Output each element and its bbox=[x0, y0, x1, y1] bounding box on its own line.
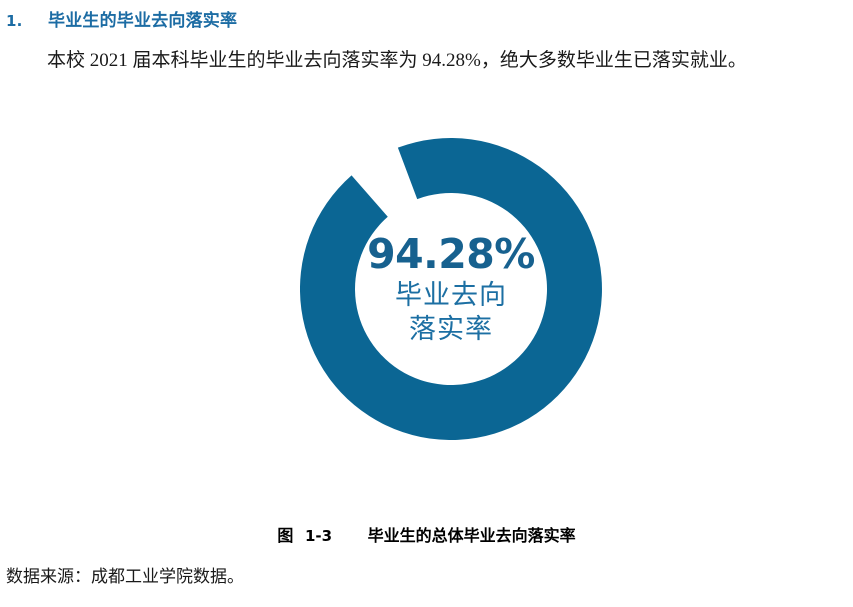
body-paragraph: 本校 2021 届本科毕业生的毕业去向落实率为 94.28%，绝大多数毕业生已落… bbox=[47, 46, 853, 76]
figure-caption-title: 毕业生的总体毕业去向落实率 bbox=[368, 526, 576, 545]
figure-caption-number: 1-3 bbox=[305, 527, 332, 545]
donut-chart: 94.28% 毕业去向 落实率 bbox=[300, 138, 602, 440]
donut-slice-achieved bbox=[300, 138, 602, 440]
page-title: 毕业生的毕业去向落实率 bbox=[48, 6, 237, 31]
source-note: 数据来源：成都工业学院数据。 bbox=[6, 562, 244, 587]
section-heading: 1. 毕业生的毕业去向落实率 bbox=[6, 6, 826, 31]
donut-chart-svg bbox=[300, 138, 602, 440]
donut-ring-group bbox=[300, 138, 602, 440]
section-number: 1. bbox=[6, 12, 48, 30]
figure-caption: 图 1-3 毕业生的总体毕业去向落实率 bbox=[0, 522, 853, 546]
figure-caption-prefix: 图 bbox=[277, 526, 293, 545]
